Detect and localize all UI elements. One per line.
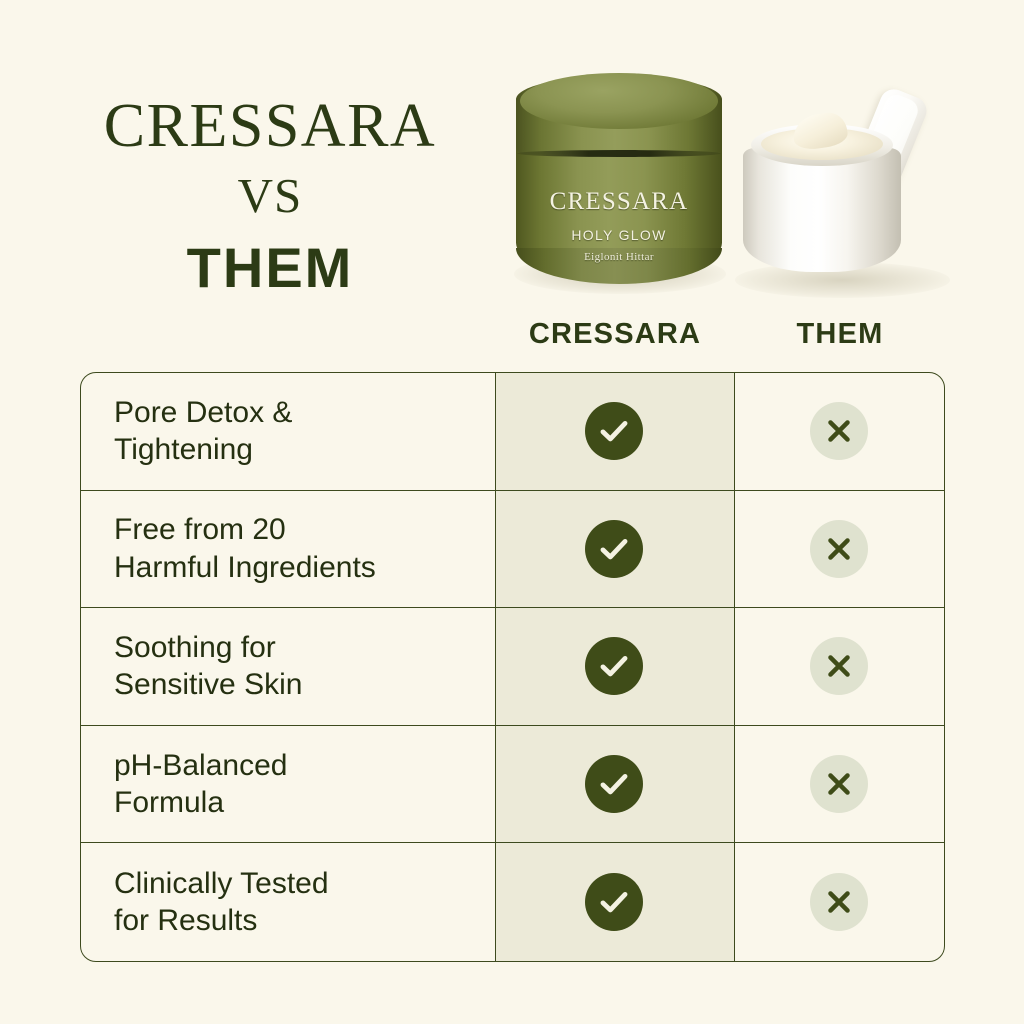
headline-block: CRESSARA VS THEM <box>60 95 480 296</box>
feature-label: Soothing forSensitive Skin <box>81 629 494 704</box>
feature-label-line2: Sensitive Skin <box>114 666 494 704</box>
them-mark-cell <box>734 491 945 608</box>
them-jar-image <box>735 80 985 305</box>
cressara-jar-lid-top <box>520 73 718 129</box>
cressara-mark-cell <box>494 726 733 843</box>
table-row: Soothing forSensitive Skin <box>81 608 944 726</box>
feature-label-line1: Pore Detox & <box>114 394 494 432</box>
table-row: Pore Detox &Tightening <box>81 373 944 491</box>
column-header-cressara: CRESSARA <box>495 318 735 351</box>
feature-label-line1: Clinically Tested <box>114 865 494 903</box>
cressara-mark-cell <box>494 491 733 608</box>
feature-label: Pore Detox &Tightening <box>81 394 494 469</box>
cressara-jar-seam <box>517 150 721 157</box>
feature-label-line1: Soothing for <box>114 629 494 667</box>
cross-icon <box>810 755 868 813</box>
table-row: Free from 20Harmful Ingredients <box>81 491 944 609</box>
feature-label: pH-BalancedFormula <box>81 747 494 822</box>
comparison-table: Pore Detox &TighteningFree from 20Harmfu… <box>80 372 945 962</box>
cross-icon <box>810 402 868 460</box>
headline-brand: CRESSARA <box>60 95 480 157</box>
cross-icon <box>810 637 868 695</box>
comparison-infographic: CRESSARA VS THEM CRESSARA HOLY GLOW Eigl… <box>0 0 1024 1024</box>
them-jar-body <box>743 148 901 272</box>
cressara-mark-cell <box>494 373 733 490</box>
table-row: pH-BalancedFormula <box>81 726 944 844</box>
check-icon <box>585 873 643 931</box>
check-icon <box>585 755 643 813</box>
check-icon <box>585 637 643 695</box>
feature-label-line2: Tightening <box>114 431 494 469</box>
check-icon <box>585 520 643 578</box>
cressara-mark-cell <box>494 608 733 725</box>
feature-label-line2: Formula <box>114 784 494 822</box>
feature-label-line2: Harmful Ingredients <box>114 549 494 587</box>
feature-label: Free from 20Harmful Ingredients <box>81 511 494 586</box>
headline-them: THEM <box>60 240 480 296</box>
check-icon <box>585 402 643 460</box>
column-header-them: THEM <box>735 318 945 351</box>
cressara-jar-image: CRESSARA HOLY GLOW Eiglonit Hittar <box>508 58 730 293</box>
table-row: Clinically Testedfor Results <box>81 843 944 961</box>
them-mark-cell <box>734 843 945 961</box>
them-mark-cell <box>734 726 945 843</box>
headline-vs: VS <box>60 171 480 220</box>
them-mark-cell <box>734 373 945 490</box>
product-images: CRESSARA HOLY GLOW Eiglonit Hittar <box>490 40 990 310</box>
feature-label: Clinically Testedfor Results <box>81 865 494 940</box>
table-rows: Pore Detox &TighteningFree from 20Harmfu… <box>81 373 944 961</box>
feature-label-line2: for Results <box>114 902 494 940</box>
them-mark-cell <box>734 608 945 725</box>
cross-icon <box>810 873 868 931</box>
feature-label-line1: pH-Balanced <box>114 747 494 785</box>
feature-label-line1: Free from 20 <box>114 511 494 549</box>
cross-icon <box>810 520 868 578</box>
cressara-mark-cell <box>494 843 733 961</box>
